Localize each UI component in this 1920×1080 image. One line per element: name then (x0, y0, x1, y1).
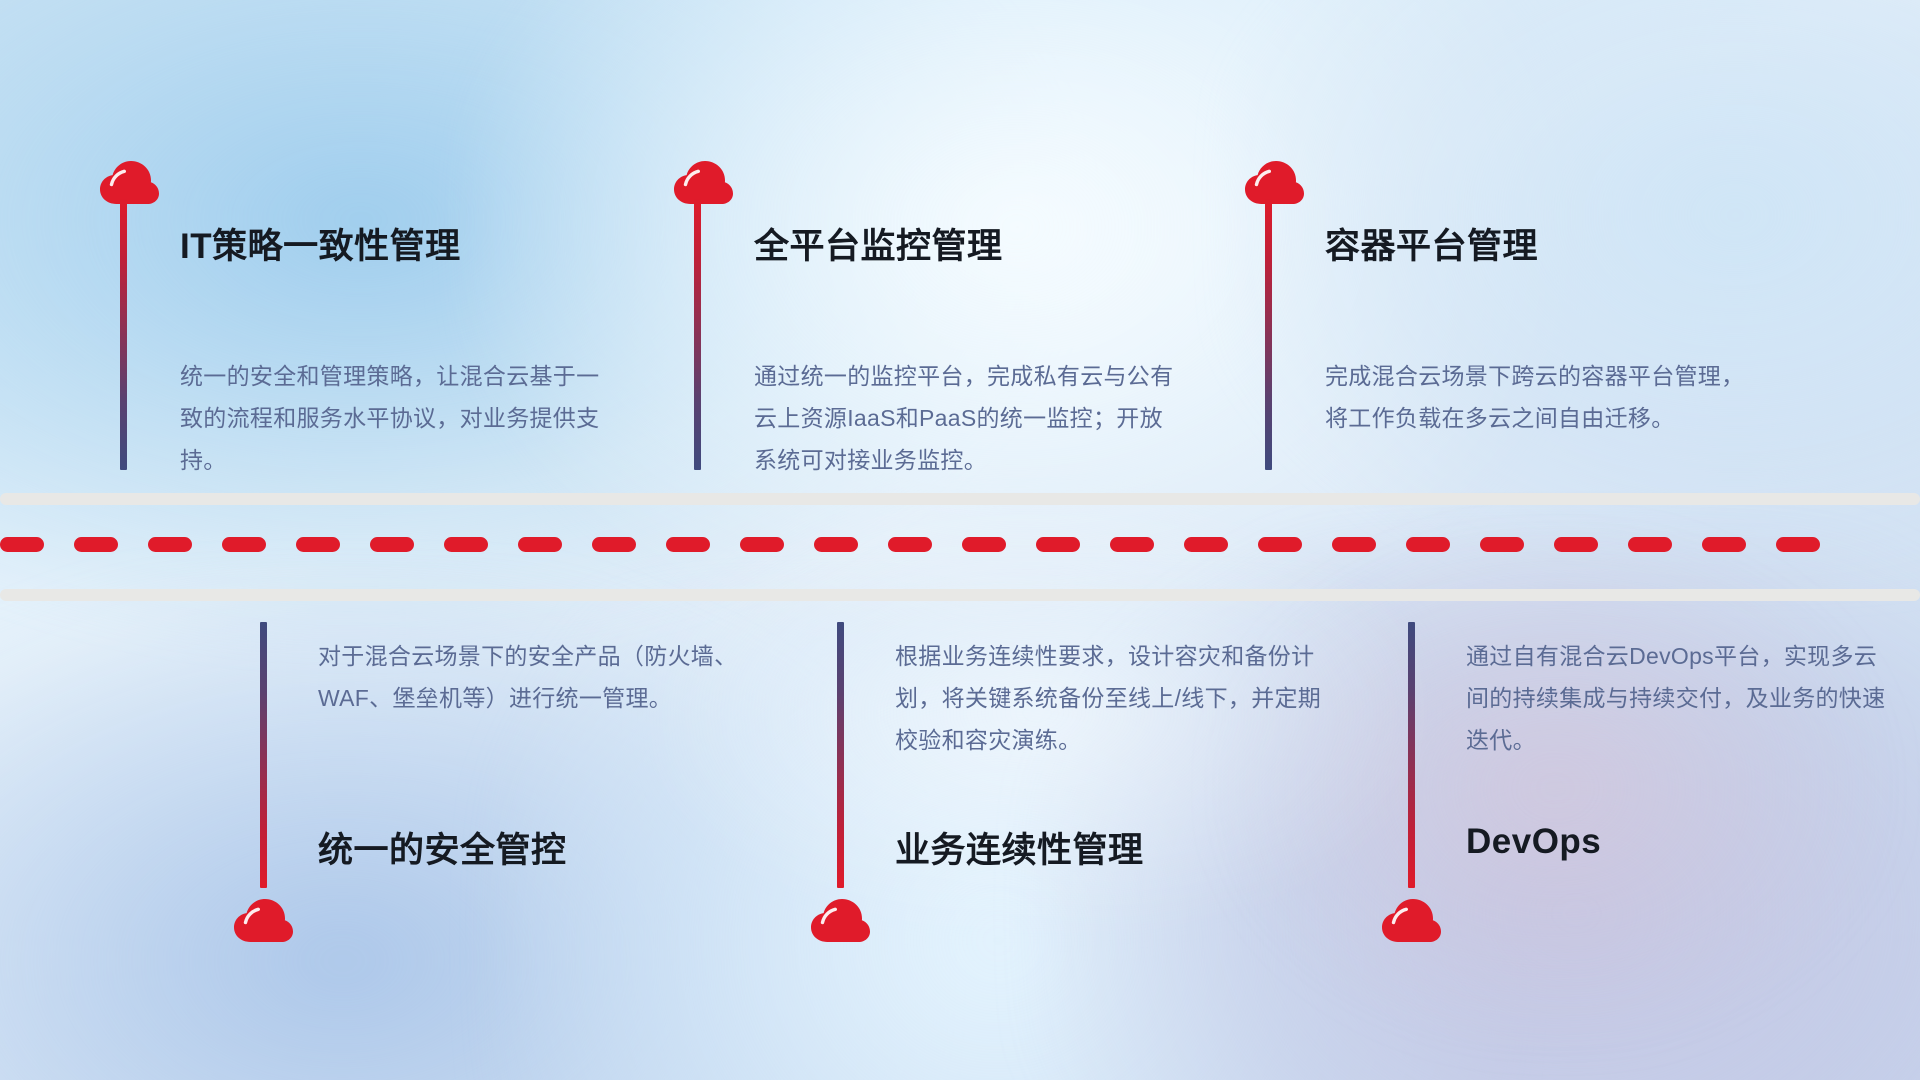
road-dash (888, 537, 932, 552)
cloud-pin-icon (809, 896, 871, 944)
road-dash (518, 537, 562, 552)
bottom-item-1-description: 对于混合云场景下的安全产品（防火墙、WAF、堡垒机等）进行统一管理。 (318, 635, 748, 719)
infographic-canvas: IT策略一致性管理 统一的安全和管理策略，让混合云基于一致的流程和服务水平协议，… (0, 0, 1920, 1080)
connector-stem (694, 198, 701, 470)
road-dash (666, 537, 710, 552)
road-dash (814, 537, 858, 552)
road-dash (0, 537, 44, 552)
connector-stem (837, 622, 844, 888)
cloud-pin-icon (1243, 158, 1305, 206)
road-dash (1332, 537, 1376, 552)
top-item-1-title: IT策略一致性管理 (180, 218, 461, 269)
cloud-pin-icon (672, 158, 734, 206)
road-dash (1628, 537, 1672, 552)
road-dash (444, 537, 488, 552)
road-dashed-center-line (0, 536, 1920, 552)
connector-stem (1265, 198, 1272, 470)
top-item-2-title: 全平台监控管理 (754, 218, 1003, 269)
bottom-item-3-title: DevOps (1466, 822, 1601, 862)
road-dash (296, 537, 340, 552)
road-line-top (0, 493, 1920, 505)
road-dash (740, 537, 784, 552)
bottom-item-3-description: 通过自有混合云DevOps平台，实现多云间的持续集成与持续交付，及业务的快速迭代… (1466, 635, 1896, 761)
cloud-pin-icon (1380, 896, 1442, 944)
bottom-item-1-title: 统一的安全管控 (318, 822, 567, 873)
top-item-3-description: 完成混合云场景下跨云的容器平台管理，将工作负载在多云之间自由迁移。 (1325, 355, 1755, 439)
road-dash (1702, 537, 1746, 552)
top-item-2-description: 通过统一的监控平台，完成私有云与公有云上资源IaaS和PaaS的统一监控；开放系… (754, 355, 1184, 481)
road-dash (1110, 537, 1154, 552)
road-dash (1258, 537, 1302, 552)
connector-stem (1408, 622, 1415, 888)
top-item-1-description: 统一的安全和管理策略，让混合云基于一致的流程和服务水平协议，对业务提供支持。 (180, 355, 610, 481)
road-dash (1776, 537, 1820, 552)
road-dash (592, 537, 636, 552)
road-dash (962, 537, 1006, 552)
road-dash (1480, 537, 1524, 552)
cloud-pin-icon (232, 896, 294, 944)
bottom-item-2-description: 根据业务连续性要求，设计容灾和备份计划，将关键系统备份至线上/线下，并定期校验和… (895, 635, 1325, 761)
road-dash (1554, 537, 1598, 552)
road-dash (1406, 537, 1450, 552)
road-line-bottom (0, 589, 1920, 601)
bottom-item-2-title: 业务连续性管理 (895, 822, 1144, 873)
road-dash (370, 537, 414, 552)
road-dash (1184, 537, 1228, 552)
road-dash (74, 537, 118, 552)
connector-stem (120, 198, 127, 470)
road-dash (148, 537, 192, 552)
road-dash (1036, 537, 1080, 552)
connector-stem (260, 622, 267, 888)
top-item-3-title: 容器平台管理 (1325, 218, 1538, 269)
road-dash (222, 537, 266, 552)
cloud-pin-icon (98, 158, 160, 206)
